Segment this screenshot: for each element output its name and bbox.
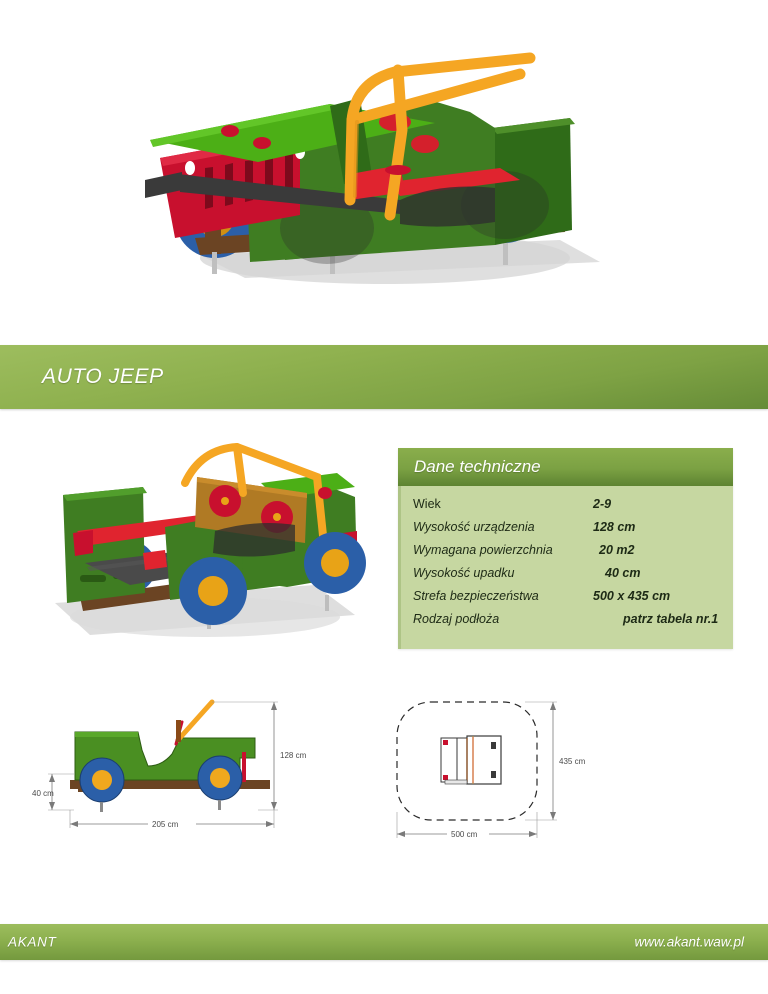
spec-value-area: 20 m2 — [593, 543, 634, 557]
spec-label-height: Wysokość urządzenia — [413, 520, 593, 534]
spec-value-surface: patrz tabela nr.1 — [593, 612, 718, 626]
jeep-side-view-technical-drawing: 128 cm 40 cm 205 cm — [30, 692, 330, 842]
table-row: Rodzaj podłoża patrz tabela nr.1 — [401, 612, 733, 635]
product-title-banner: AUTO JEEP — [0, 345, 768, 409]
table-row: Wysokość upadku 40 cm — [401, 566, 733, 589]
plan-depth-dimension-label: 435 cm — [559, 757, 586, 766]
table-row: Strefa bezpieczeństwa 500 x 435 cm — [401, 589, 733, 612]
plan-width-dimension-label: 500 cm — [451, 830, 478, 839]
table-row: Wiek 2-9 — [401, 497, 733, 520]
technical-data-body: Wiek 2-9 Wysokość urządzenia 128 cm Wyma… — [398, 486, 733, 649]
spec-value-safety-zone: 500 x 435 cm — [593, 589, 670, 603]
spec-label-safety-zone: Strefa bezpieczeństwa — [413, 589, 593, 603]
side-height-dimension-label: 128 cm — [280, 751, 307, 760]
spec-value-fall: 40 cm — [593, 566, 640, 580]
side-fall-height-dimension-label: 40 cm — [32, 789, 54, 798]
secondary-product-render — [25, 435, 385, 665]
spec-label-area: Wymagana powierzchnia — [413, 543, 593, 557]
footer-brand: AKANT — [8, 935, 57, 950]
footer-website[interactable]: www.akant.waw.pl — [634, 935, 744, 950]
table-row: Wymagana powierzchnia 20 m2 — [401, 543, 733, 566]
jeep-plan-footprint — [441, 736, 501, 784]
safety-zone-plan-technical-drawing: 435 cm 500 cm — [385, 692, 595, 842]
technical-data-header: Dane techniczne — [398, 448, 733, 486]
table-row: Wysokość urządzenia 128 cm — [401, 520, 733, 543]
plan-safety-zone-drawing: 435 cm 500 cm — [385, 692, 595, 842]
page-title: AUTO JEEP — [42, 365, 164, 389]
spec-label-age: Wiek — [413, 497, 593, 511]
hero-product-render — [0, 0, 768, 340]
technical-data-table: Dane techniczne Wiek 2-9 Wysokość urządz… — [398, 448, 733, 649]
spec-value-age: 2-9 — [593, 497, 611, 511]
jeep-3d-rear-illustration — [25, 435, 385, 665]
side-elevation-drawing: 128 cm 40 cm 205 cm — [30, 692, 330, 842]
spec-label-fall: Wysokość upadku — [413, 566, 593, 580]
jeep-3d-front-illustration — [0, 0, 768, 340]
side-length-dimension-label: 205 cm — [152, 820, 179, 829]
spec-value-height: 128 cm — [593, 520, 635, 534]
technical-data-title: Dane techniczne — [414, 457, 541, 477]
spec-label-surface: Rodzaj podłoża — [413, 612, 593, 626]
footer-banner: AKANT www.akant.waw.pl — [0, 924, 768, 960]
